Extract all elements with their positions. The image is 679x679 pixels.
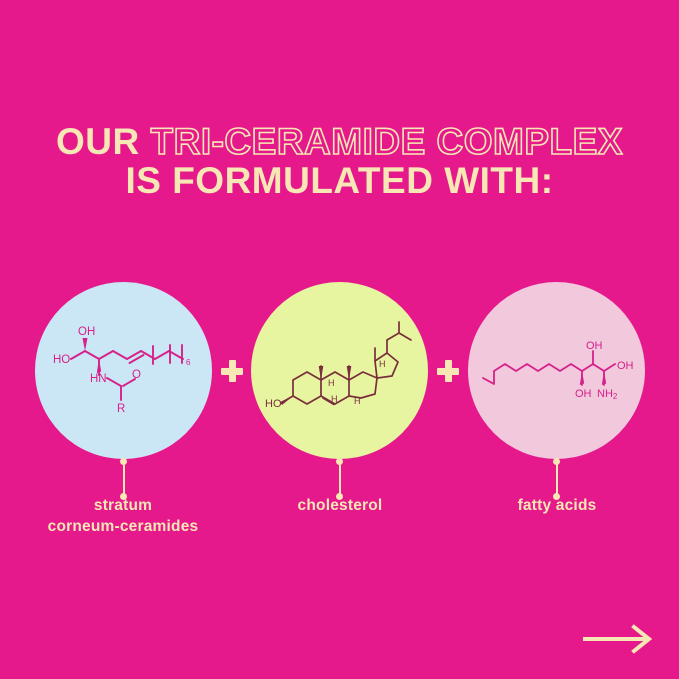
- atom-label-6: 6: [186, 358, 191, 367]
- phytosphingosine-skeletal-formula: OH OH NH2 OH: [481, 331, 633, 411]
- headline-our: OUR: [56, 121, 151, 162]
- plus-operator-2: [437, 360, 459, 382]
- ceramide-skeletal-formula: HO OH HN O R 6: [49, 316, 199, 426]
- ingredient-label-cholesterol: cholesterol: [227, 496, 453, 517]
- ingredient-label-ceramide: stratum corneum-ceramides: [10, 496, 236, 538]
- atom-label-oh-bottom: OH: [575, 388, 592, 400]
- ingredient-label-fatty-acids: fatty acids: [444, 496, 670, 517]
- promo-poster: OUR TRI-CERAMIDE COMPLEX IS FORMULATED W…: [0, 0, 679, 679]
- atom-label-hn: HN: [90, 373, 107, 385]
- atom-label-h2: H: [331, 394, 338, 404]
- atom-label-oh: OH: [78, 326, 95, 338]
- headline-tri-ceramide-complex: TRI-CERAMIDE COMPLEX: [151, 121, 624, 162]
- atom-label-h4: H: [379, 359, 386, 369]
- connector-stem: [556, 461, 558, 497]
- connector-line-ceramide: [120, 458, 127, 500]
- atom-label-ho: HO: [265, 398, 282, 410]
- atom-label-r: R: [117, 403, 125, 415]
- ingredients-row: HO OH HN O R 6: [0, 282, 679, 462]
- atom-label-oh-right: OH: [617, 360, 634, 372]
- ingredient-circle-cholesterol: HO H H H H: [251, 282, 428, 459]
- headline-line-2: IS FORMULATED WITH:: [0, 161, 679, 200]
- atom-label-h1: H: [328, 378, 335, 388]
- atom-label-o: O: [132, 369, 141, 381]
- ingredient-circle-fatty-acids: OH OH NH2 OH: [468, 282, 645, 459]
- connector-line-fatty-acids: [553, 458, 560, 500]
- atom-label-ho: HO: [53, 354, 70, 366]
- page-title: OUR TRI-CERAMIDE COMPLEX IS FORMULATED W…: [0, 122, 679, 200]
- connector-stem: [123, 461, 125, 497]
- plus-operator-1: [221, 360, 243, 382]
- cholesterol-skeletal-formula: HO H H H H: [265, 318, 415, 423]
- connector-line-cholesterol: [336, 458, 343, 500]
- next-arrow-icon[interactable]: [583, 624, 655, 654]
- connector-stem: [339, 461, 341, 497]
- atom-label-h3: H: [354, 396, 361, 406]
- atom-label-nh2: NH2: [597, 388, 618, 401]
- atom-label-oh-top: OH: [586, 340, 603, 352]
- ingredient-circle-ceramide: HO OH HN O R 6: [35, 282, 212, 459]
- headline-line-1: OUR TRI-CERAMIDE COMPLEX: [0, 122, 679, 161]
